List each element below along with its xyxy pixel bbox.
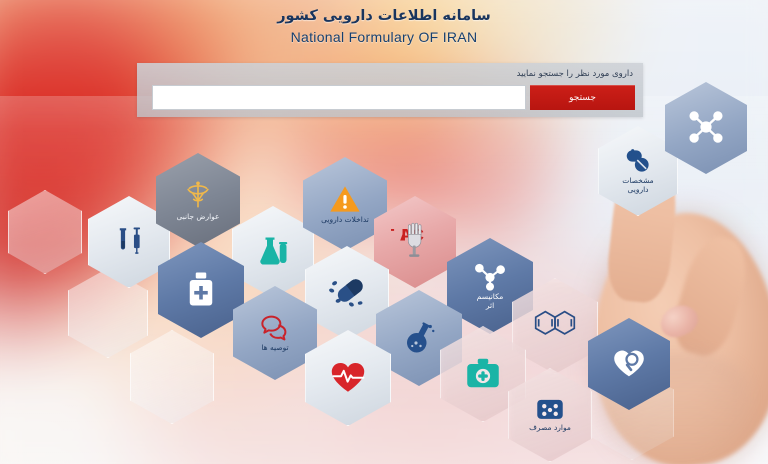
hex-label: تداخلات دارویی	[321, 216, 369, 225]
tiac-hand-icon: T I A C	[391, 221, 439, 261]
page-root: سامانه اطلاعات دارویی کشور National Form…	[0, 0, 768, 464]
flask-tubes-icon	[255, 233, 291, 269]
search-hint-label: داروی مورد نظر را جستجو نمایید	[517, 69, 633, 79]
hex-label: موارد مصرف	[529, 424, 571, 433]
round-flask-icon	[401, 320, 437, 354]
blister-pack-icon	[536, 398, 564, 422]
molecule-icon	[473, 261, 507, 291]
page-title-en: National Formulary OF IRAN	[0, 29, 768, 45]
pills-icon	[623, 147, 653, 175]
heart-magnifier-icon	[612, 347, 646, 379]
hex-label: عوارض جانبی	[176, 213, 219, 222]
search-button[interactable]: جستجو	[530, 85, 635, 110]
molecule-icon	[687, 108, 725, 146]
benzene-rings-icon	[532, 307, 578, 343]
search-panel: داروی مورد نظر را جستجو نمایید جستجو	[137, 63, 643, 117]
search-row: جستجو	[152, 85, 635, 110]
caduceus-icon	[183, 179, 213, 211]
page-title-fa: سامانه اطلاعات دارویی کشور	[0, 8, 768, 24]
hex-label: مکانیسم اثر	[477, 293, 503, 310]
medicine-bottle-icon	[185, 271, 217, 307]
speech-bubbles-icon	[259, 314, 291, 342]
search-input[interactable]	[152, 85, 526, 110]
page-header: سامانه اطلاعات دارویی کشور National Form…	[0, 0, 768, 45]
svg-text:T: T	[391, 225, 395, 244]
capsule-icon	[328, 275, 366, 309]
heart-pulse-icon	[329, 360, 367, 394]
medical-bag-icon	[465, 357, 501, 389]
test-tube-syringe-icon	[112, 224, 146, 258]
hex-label: مشخصات دارویی	[622, 177, 653, 194]
warning-triangle-icon	[329, 184, 361, 214]
hex-label: توصیه ها	[261, 344, 288, 353]
